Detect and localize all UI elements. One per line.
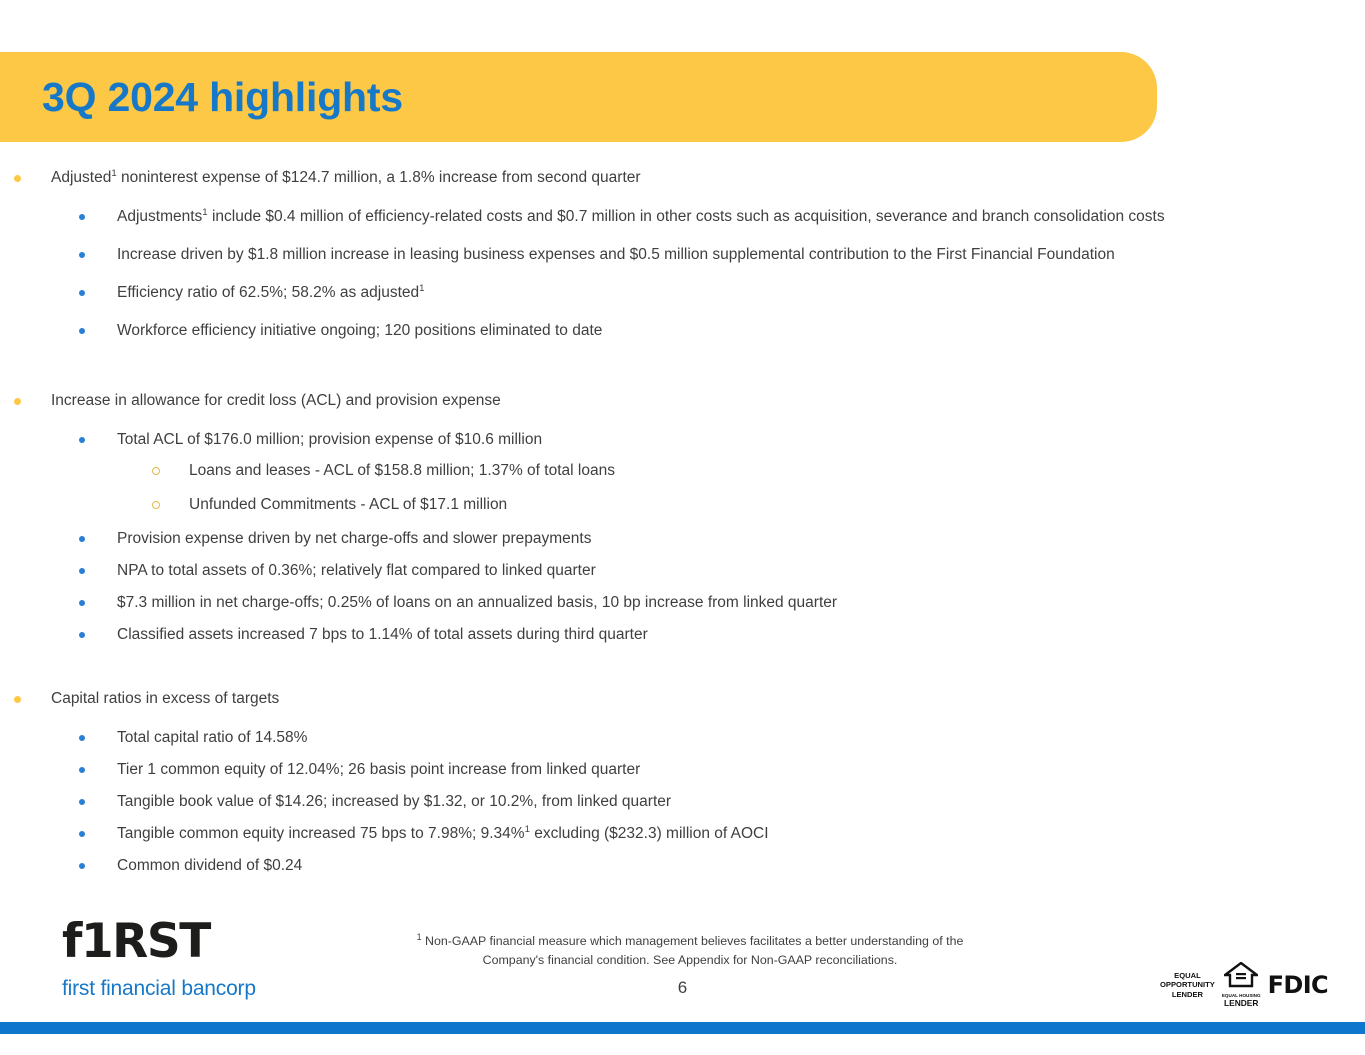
bullet-text: Capital ratios in excess of targets — [51, 690, 279, 707]
bullet-level2: Total capital ratio of 14.58% — [0, 728, 1365, 749]
section-spacer — [0, 359, 1365, 391]
eol-line-3: LENDER — [1160, 990, 1215, 999]
footnote-line-2: Company's financial condition. See Appen… — [330, 951, 1050, 970]
bullet-text: Unfunded Commitments - ACL of $17.1 mill… — [189, 496, 507, 513]
ehl-sub-line-2: LENDER — [1222, 999, 1261, 1008]
footnote: 1 Non-GAAP financial measure which manag… — [330, 932, 1050, 970]
bullet-level2: Tier 1 common equity of 12.04%; 26 basis… — [0, 760, 1365, 781]
logo-wordmark: f1RST — [62, 918, 292, 965]
bullet-level2: Adjustments1 include $0.4 million of eff… — [0, 207, 1365, 228]
bullet-level2: NPA to total assets of 0.36%; relatively… — [0, 561, 1365, 582]
bullet-level2: Common dividend of $0.24 — [0, 856, 1365, 877]
bullet-marker-level1 — [14, 696, 21, 703]
bullet-level2: Classified assets increased 7 bps to 1.1… — [0, 625, 1365, 646]
footnote-ref: 1 — [419, 283, 424, 294]
bullet-level1: Capital ratios in excess of targets — [0, 689, 1365, 710]
bullet-marker-level3 — [152, 501, 160, 509]
bullet-marker-level2 — [79, 568, 85, 574]
slide-body: Adjusted1 noninterest expense of $124.7 … — [0, 168, 1365, 888]
bullet-marker-level2 — [79, 632, 85, 638]
bullet-marker-level2 — [79, 831, 85, 837]
bullet-text: Increase driven by $1.8 million increase… — [117, 246, 1115, 263]
bullet-text: Workforce efficiency initiative ongoing;… — [117, 322, 602, 339]
bullet-level2: Tangible common equity increased 75 bps … — [0, 824, 1365, 845]
bullet-level2: Workforce efficiency initiative ongoing;… — [0, 321, 1365, 342]
bullet-text: Total ACL of $176.0 million; provision e… — [117, 431, 542, 448]
logo-tagline: first financial bancorp — [62, 978, 292, 999]
bullet-text: Classified assets increased 7 bps to 1.1… — [117, 626, 648, 643]
bullet-text: Total capital ratio of 14.58% — [117, 729, 307, 746]
page-title: 3Q 2024 highlights — [42, 77, 403, 118]
bullet-marker-level2 — [79, 252, 85, 258]
compliance-marks: EQUAL OPPORTUNITY LENDER EQUAL HOUSING L… — [1160, 962, 1328, 1008]
bullet-text: Increase in allowance for credit loss (A… — [51, 392, 501, 409]
section-spacer — [0, 657, 1365, 689]
bullet-marker-level2 — [79, 437, 85, 443]
bullet-text: Adjustments — [117, 208, 202, 225]
bullet-marker-level2 — [79, 600, 85, 606]
house-icon — [1224, 962, 1258, 988]
bullet-level3: Unfunded Commitments - ACL of $17.1 mill… — [0, 495, 1365, 516]
footnote-text-1: Non-GAAP financial measure which managem… — [422, 934, 964, 948]
bullet-level2: Increase driven by $1.8 million increase… — [0, 245, 1365, 266]
eol-line-1: EQUAL — [1160, 971, 1215, 980]
bullet-level2: Total ACL of $176.0 million; provision e… — [0, 430, 1365, 451]
bullet-text: NPA to total assets of 0.36%; relatively… — [117, 562, 596, 579]
bullet-marker-level2 — [79, 328, 85, 334]
bullet-text: Common dividend of $0.24 — [117, 857, 302, 874]
bullet-text-cont: include $0.4 million of efficiency-relat… — [208, 208, 1165, 225]
bullet-marker-level2 — [79, 214, 85, 220]
title-banner: 3Q 2024 highlights — [0, 52, 1157, 142]
bullet-marker-level2 — [79, 767, 85, 773]
bullet-marker-level3 — [152, 467, 160, 475]
bullet-marker-level2 — [79, 735, 85, 741]
bullet-level2: Provision expense driven by net charge-o… — [0, 529, 1365, 550]
bullet-marker-level1 — [14, 398, 21, 405]
equal-opportunity-lender-text: EQUAL OPPORTUNITY LENDER — [1160, 971, 1215, 999]
bullet-text: Loans and leases - ACL of $158.8 million… — [189, 462, 615, 479]
bottom-accent-bar — [0, 1022, 1365, 1034]
company-logo: f1RST first financial bancorp — [62, 918, 292, 999]
equal-housing-lender-mark: EQUAL HOUSING LENDER — [1222, 962, 1261, 1008]
bullet-marker-level2 — [79, 536, 85, 542]
footnote-line-1: 1 Non-GAAP financial measure which manag… — [330, 932, 1050, 951]
bullet-level2: Tangible book value of $14.26; increased… — [0, 792, 1365, 813]
bullet-text: Tangible book value of $14.26; increased… — [117, 793, 671, 810]
eol-line-2: OPPORTUNITY — [1160, 980, 1215, 989]
bullet-text-cont: noninterest expense of $124.7 million, a… — [117, 169, 641, 186]
bullet-text: $7.3 million in net charge-offs; 0.25% o… — [117, 594, 837, 611]
bullet-section-noninterest-expense: Adjusted1 noninterest expense of $124.7 … — [0, 168, 1365, 342]
bullet-level1: Increase in allowance for credit loss (A… — [0, 391, 1365, 412]
bullet-marker-level2 — [79, 863, 85, 869]
bullet-marker-level2 — [79, 290, 85, 296]
bullet-level3: Loans and leases - ACL of $158.8 million… — [0, 461, 1365, 482]
bullet-text: Provision expense driven by net charge-o… — [117, 530, 591, 547]
bullet-text: Efficiency ratio of 62.5%; 58.2% as adju… — [117, 284, 419, 301]
fdic-mark: FDIC — [1268, 971, 1328, 999]
bullet-text: Tangible common equity increased 75 bps … — [117, 825, 525, 842]
bullet-level2: Efficiency ratio of 62.5%; 58.2% as adju… — [0, 283, 1365, 304]
bullet-level1: Adjusted1 noninterest expense of $124.7 … — [0, 168, 1365, 189]
bullet-section-allowance-credit-loss: Increase in allowance for credit loss (A… — [0, 391, 1365, 646]
bullet-text: Tier 1 common equity of 12.04%; 26 basis… — [117, 761, 640, 778]
bullet-marker-level2 — [79, 799, 85, 805]
bullet-text: Adjusted — [51, 169, 111, 186]
bullet-marker-level1 — [14, 175, 21, 182]
bullet-section-capital-ratios: Capital ratios in excess of targets Tota… — [0, 689, 1365, 877]
bullet-text-cont: excluding ($232.3) million of AOCI — [530, 825, 769, 842]
bullet-level2: $7.3 million in net charge-offs; 0.25% o… — [0, 593, 1365, 614]
